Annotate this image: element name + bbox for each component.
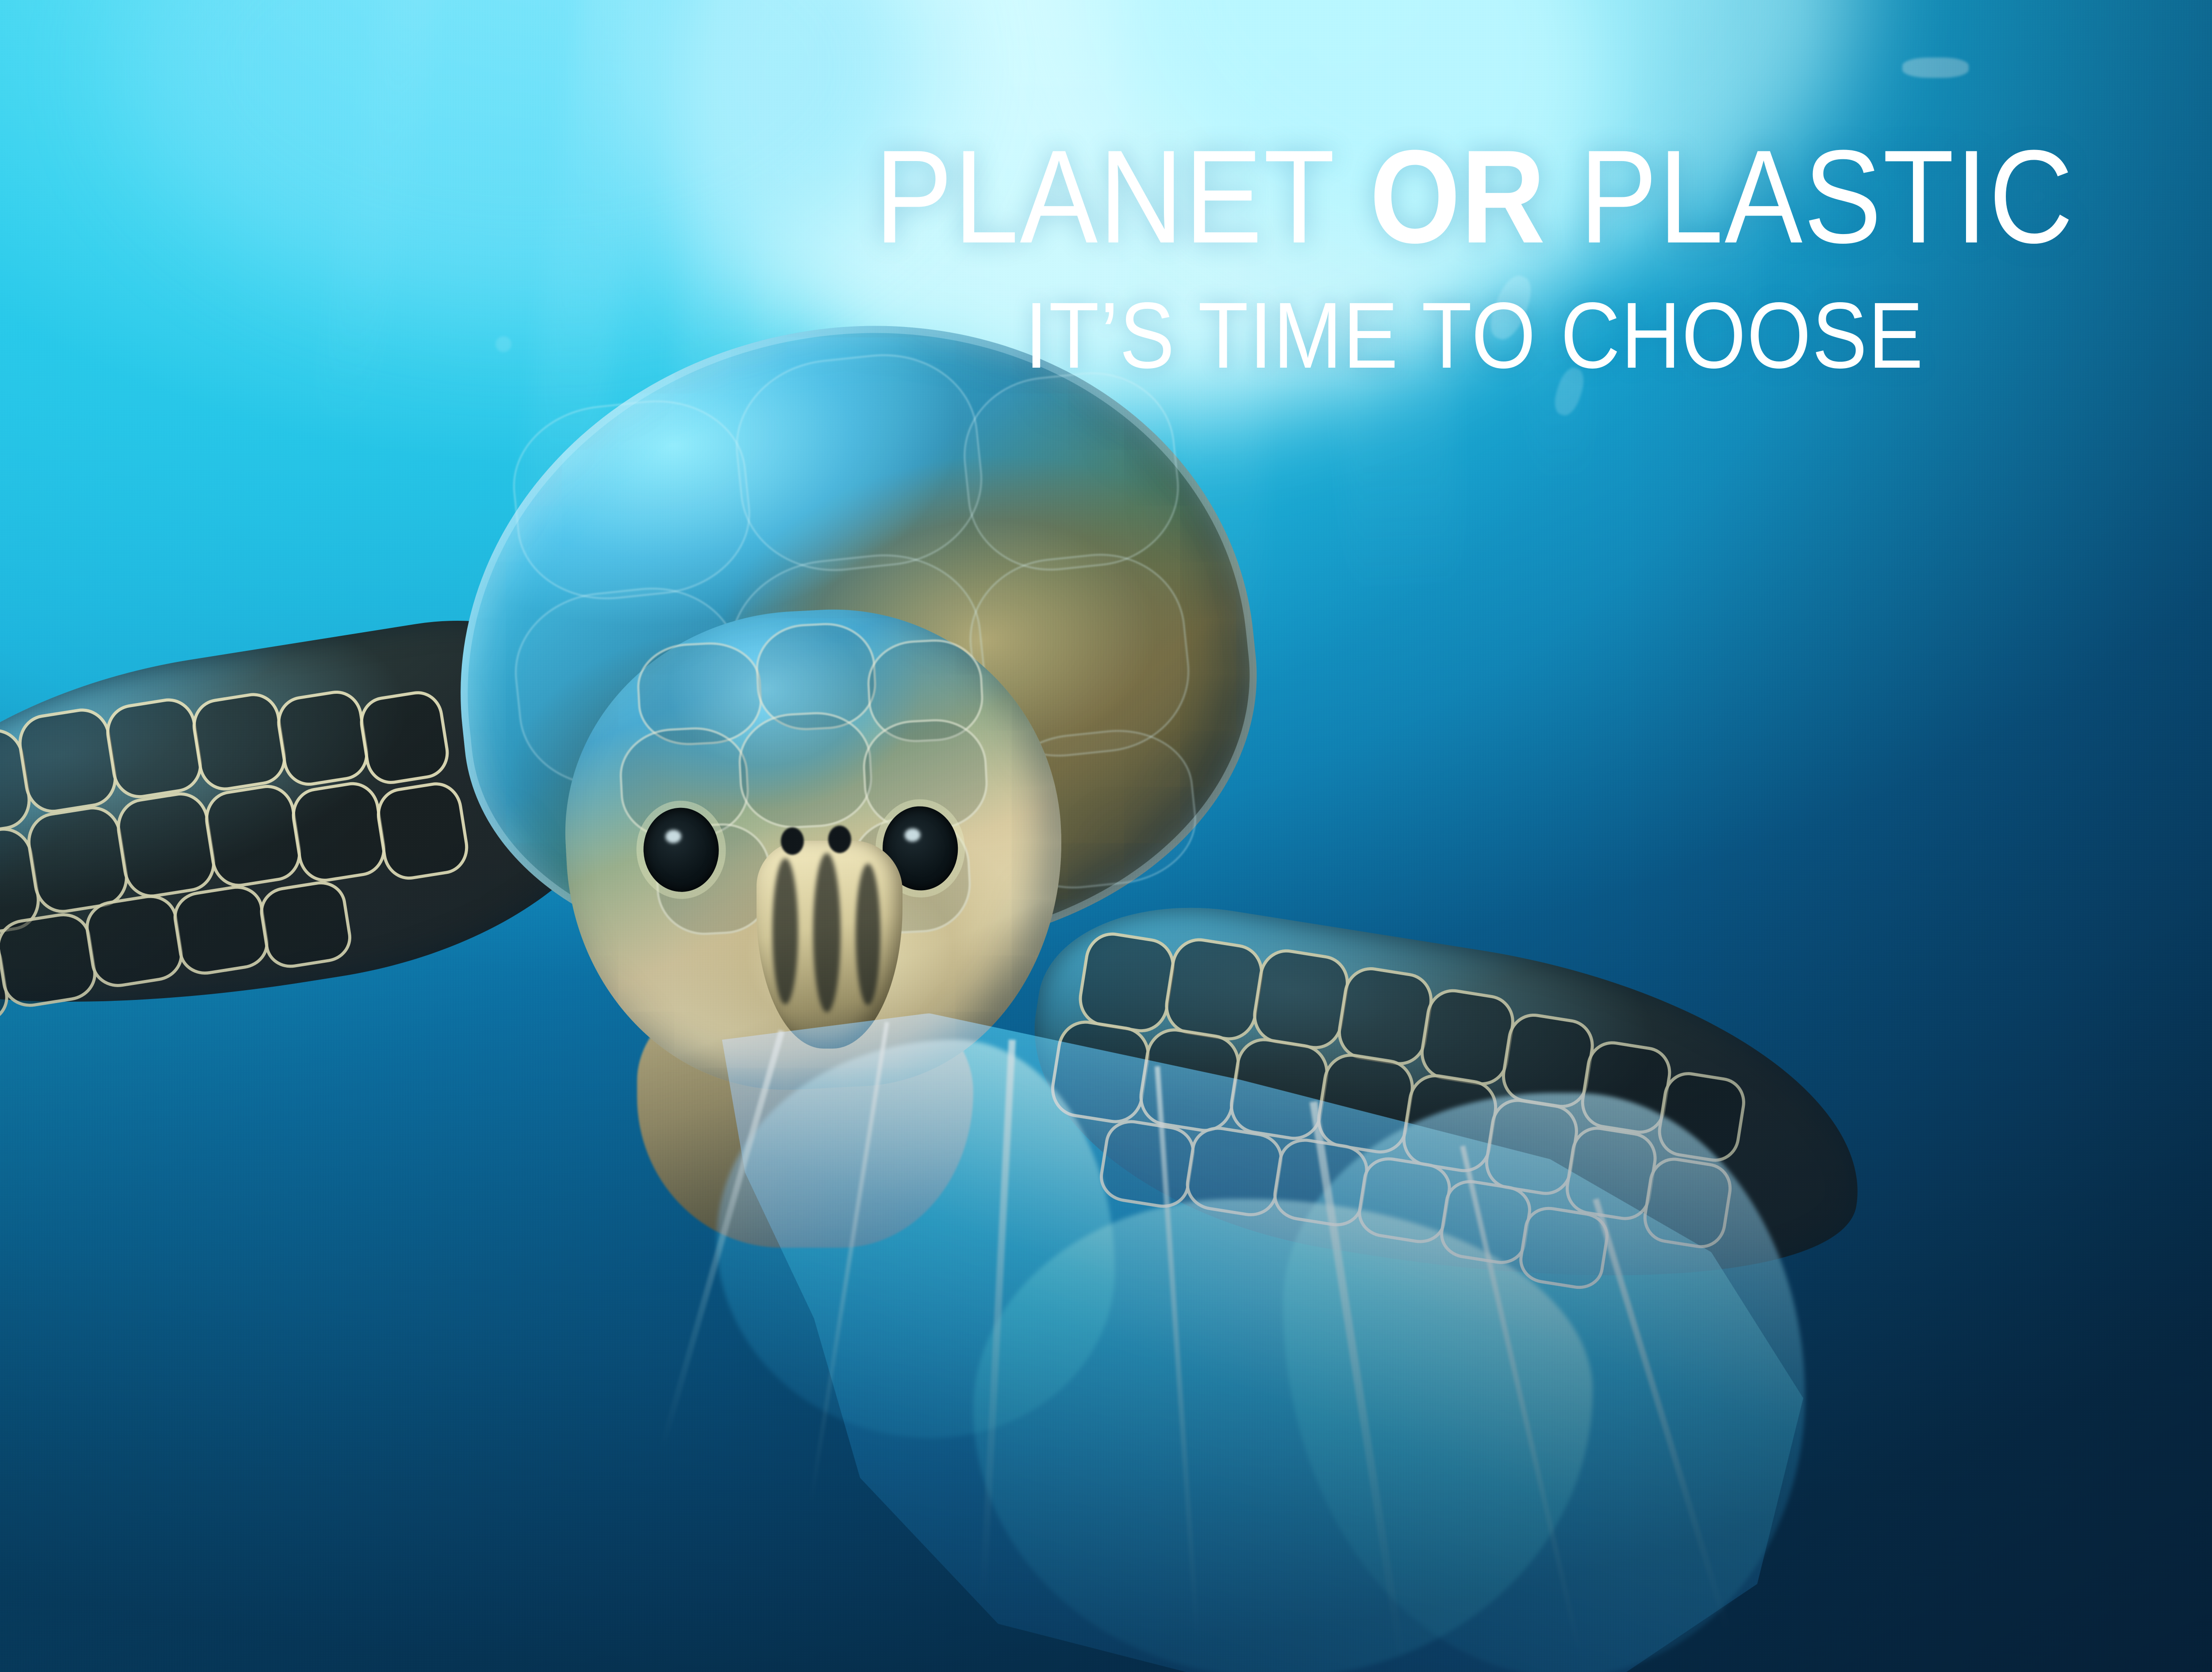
headline-word-planet: PLANET xyxy=(875,122,1336,271)
page-subtitle: IT’S TIME TO CHOOSE xyxy=(177,288,2212,382)
campaign-poster: PLANET OR PLASTIC IT’S TIME TO CHOOSE xyxy=(0,0,2212,1672)
page-title: PLANET OR PLASTIC xyxy=(177,139,2212,254)
headline-word-plastic: PLASTIC xyxy=(1579,122,2074,271)
headline-word-or: OR xyxy=(1370,122,1546,271)
